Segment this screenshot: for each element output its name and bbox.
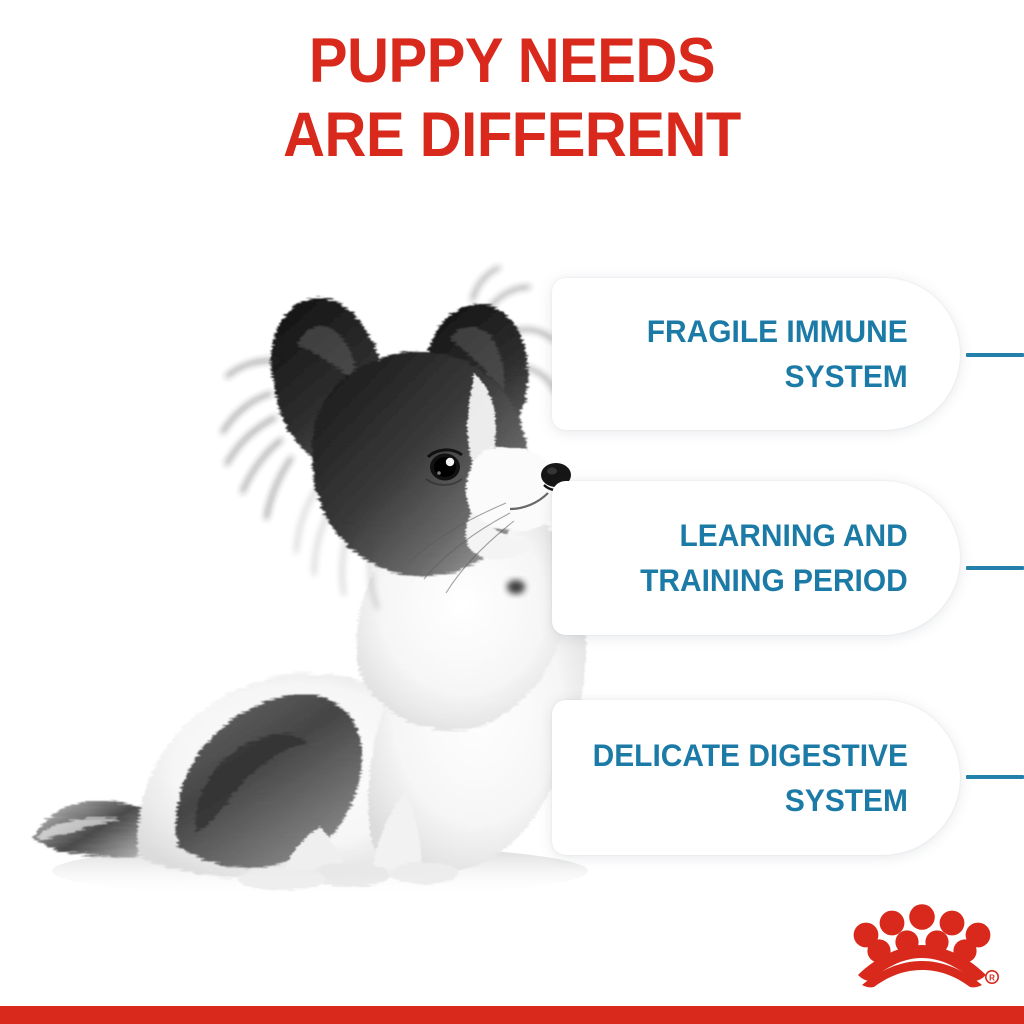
- svg-text:R: R: [989, 973, 995, 982]
- callout-label: FRAGILE IMMUNE SYSTEM: [647, 309, 908, 399]
- callout-label: LEARNING AND TRAINING PERIOD: [640, 513, 908, 603]
- callout-card-delicate-digestive-system[interactable]: DELICATE DIGESTIVE SYSTEM: [552, 700, 960, 855]
- page-title-line-2: ARE DIFFERENT: [41, 98, 983, 172]
- puppy-photo: [20, 235, 600, 905]
- callout-label: DELICATE DIGESTIVE SYSTEM: [593, 733, 908, 823]
- page-title-line-1: PUPPY NEEDS: [41, 24, 983, 98]
- callout-connector-line-2: [966, 566, 1024, 570]
- registered-trademark-mark: R: [986, 971, 998, 983]
- callout-connector-line-3: [966, 775, 1024, 779]
- royal-canin-crown-logo: R: [846, 893, 1006, 989]
- callout-card-learning-and-training-period[interactable]: LEARNING AND TRAINING PERIOD: [552, 481, 960, 635]
- callout-connector-line-1: [966, 353, 1024, 357]
- callout-card-fragile-immune-system[interactable]: FRAGILE IMMUNE SYSTEM: [552, 278, 960, 430]
- footer-red-bar: [0, 1006, 1024, 1024]
- page-title: PUPPY NEEDS ARE DIFFERENT: [41, 24, 983, 172]
